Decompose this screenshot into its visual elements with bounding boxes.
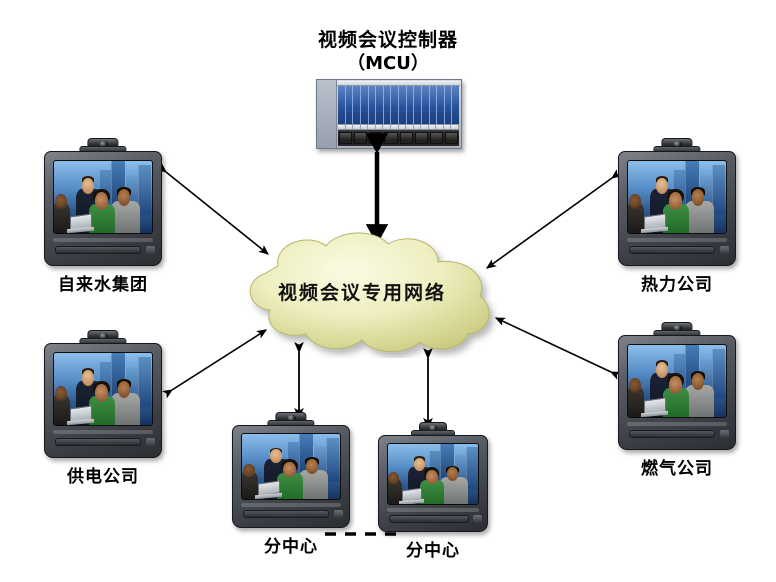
conference-photo — [54, 161, 152, 234]
node-gas-label: 燃气公司 — [641, 454, 713, 479]
conference-photo — [388, 444, 479, 505]
network-cloud[interactable]: 视频会议专用网络 — [222, 230, 502, 358]
node-heat-label: 热力公司 — [641, 270, 713, 295]
monitor-knob — [473, 515, 482, 523]
node-power-label: 供电公司 — [67, 462, 139, 487]
monitor-body — [618, 151, 736, 266]
link-heat-cloud — [487, 178, 612, 268]
mcu-card-slots — [338, 86, 459, 124]
monitor-control-bar — [389, 515, 469, 523]
monitor-body — [378, 435, 488, 532]
node-sub1[interactable]: 分中心 — [232, 412, 350, 528]
monitor-control-bar — [243, 510, 329, 518]
mcu-lower-bay — [338, 130, 459, 146]
mcu-title-line2: （MCU） — [248, 52, 528, 76]
monitor-body — [232, 425, 350, 528]
monitor-control-bar — [629, 246, 715, 254]
monitor-screen — [627, 344, 727, 419]
node-sub1-label: 分中心 — [264, 532, 318, 557]
link-gas-cloud — [496, 318, 611, 372]
monitor-screen — [53, 352, 153, 427]
mcu-side-panel — [317, 80, 337, 148]
monitor-brand-strip — [53, 238, 153, 242]
mcu-title: 视频会议控制器 （MCU） — [248, 28, 528, 76]
monitor-knob — [334, 510, 343, 518]
monitor-screen — [53, 160, 153, 235]
node-water-label: 自来水集团 — [58, 270, 148, 295]
network-diagram-canvas: 视频会议控制器 （MCU） — [0, 0, 776, 582]
mcu-title-line1: 视频会议控制器 — [248, 28, 528, 52]
monitor-screen — [241, 433, 341, 500]
conference-photo — [628, 161, 726, 234]
monitor-brand-strip — [53, 430, 153, 434]
monitor-knob — [720, 246, 729, 254]
node-power[interactable]: 供电公司 — [44, 330, 162, 458]
monitor-brand-strip — [627, 238, 727, 242]
network-cloud-label: 视频会议专用网络 — [222, 278, 502, 305]
monitor-body — [44, 343, 162, 458]
node-sub2[interactable]: 分中心 — [378, 422, 488, 532]
node-gas[interactable]: 燃气公司 — [618, 322, 736, 450]
monitor-body — [44, 151, 162, 266]
node-water[interactable]: 自来水集团 — [44, 138, 162, 266]
monitor-body — [618, 335, 736, 450]
monitor-knob — [146, 438, 155, 446]
node-sub2-label: 分中心 — [406, 536, 460, 561]
monitor-control-bar — [55, 246, 141, 254]
conference-photo — [628, 345, 726, 418]
monitor-brand-strip — [387, 508, 480, 512]
mcu-body — [316, 79, 462, 149]
monitor-screen — [387, 443, 480, 506]
monitor-brand-strip — [627, 422, 727, 426]
monitor-screen — [627, 160, 727, 235]
conference-photo — [242, 434, 340, 499]
mcu-chassis[interactable] — [316, 79, 462, 149]
monitor-control-bar — [55, 438, 141, 446]
monitor-knob — [146, 246, 155, 254]
monitor-control-bar — [629, 430, 715, 438]
node-heat[interactable]: 热力公司 — [618, 138, 736, 266]
conference-photo — [54, 353, 152, 426]
monitor-knob — [720, 430, 729, 438]
monitor-brand-strip — [241, 503, 341, 507]
